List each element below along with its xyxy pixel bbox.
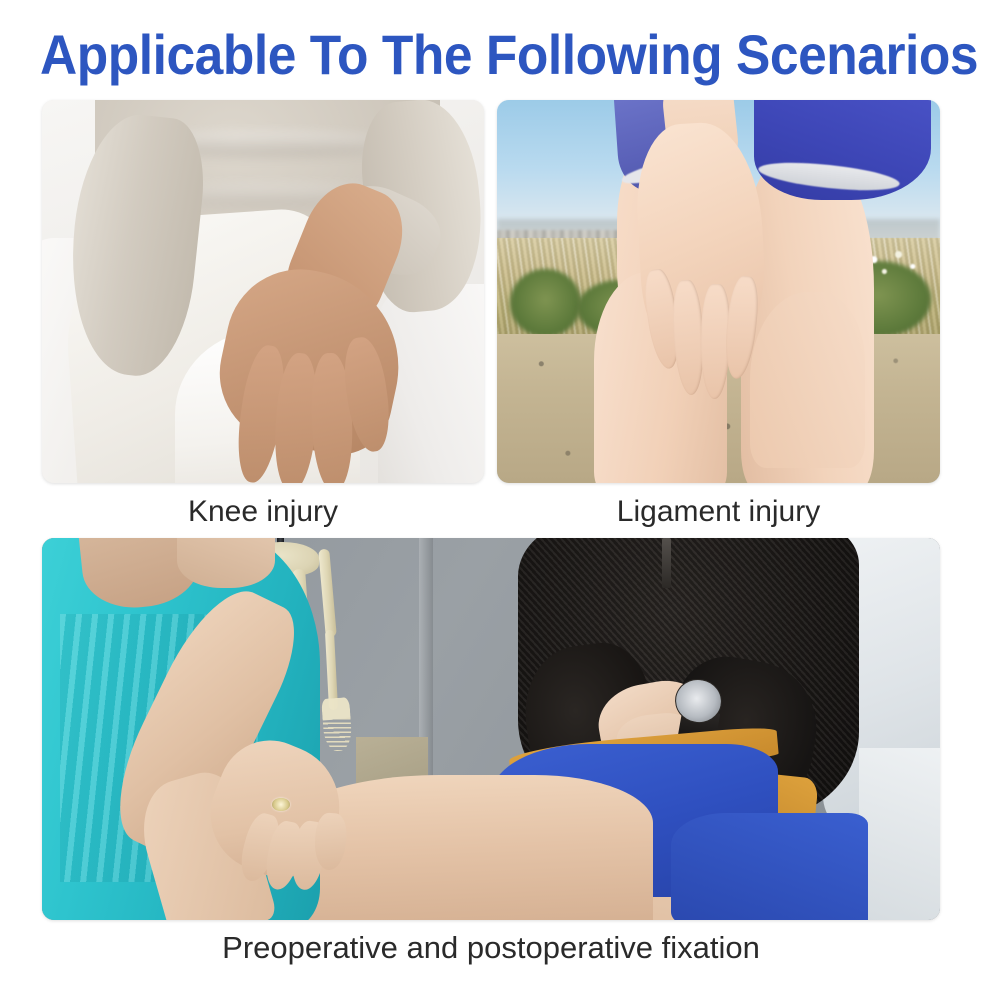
- scenario-image-ligament-injury: [497, 100, 940, 483]
- caption-knee-injury: Knee injury: [42, 495, 484, 529]
- caption-ligament-injury: Ligament injury: [497, 495, 940, 529]
- calf-right: [750, 292, 865, 468]
- fleece-zipper: [662, 538, 671, 588]
- scenario-image-knee-injury: [42, 100, 484, 483]
- patient-blue-shorts-lower: [671, 813, 869, 920]
- nurse-shoulder: [177, 538, 276, 588]
- exam-bed-sheet-lower: [859, 748, 940, 920]
- page-title: Applicable To The Following Scenarios: [40, 26, 960, 84]
- ligament-injury-photo: [497, 100, 940, 483]
- green-bush-left: [510, 269, 581, 338]
- clinic-examination-photo: [42, 538, 940, 920]
- caption-preoperative-postoperative-fixation: Preoperative and postoperative fixation: [42, 930, 940, 966]
- scenario-image-preoperative-postoperative-fixation: [42, 538, 940, 920]
- nurse-ring: [272, 798, 290, 811]
- knee-injury-photo: [42, 100, 484, 483]
